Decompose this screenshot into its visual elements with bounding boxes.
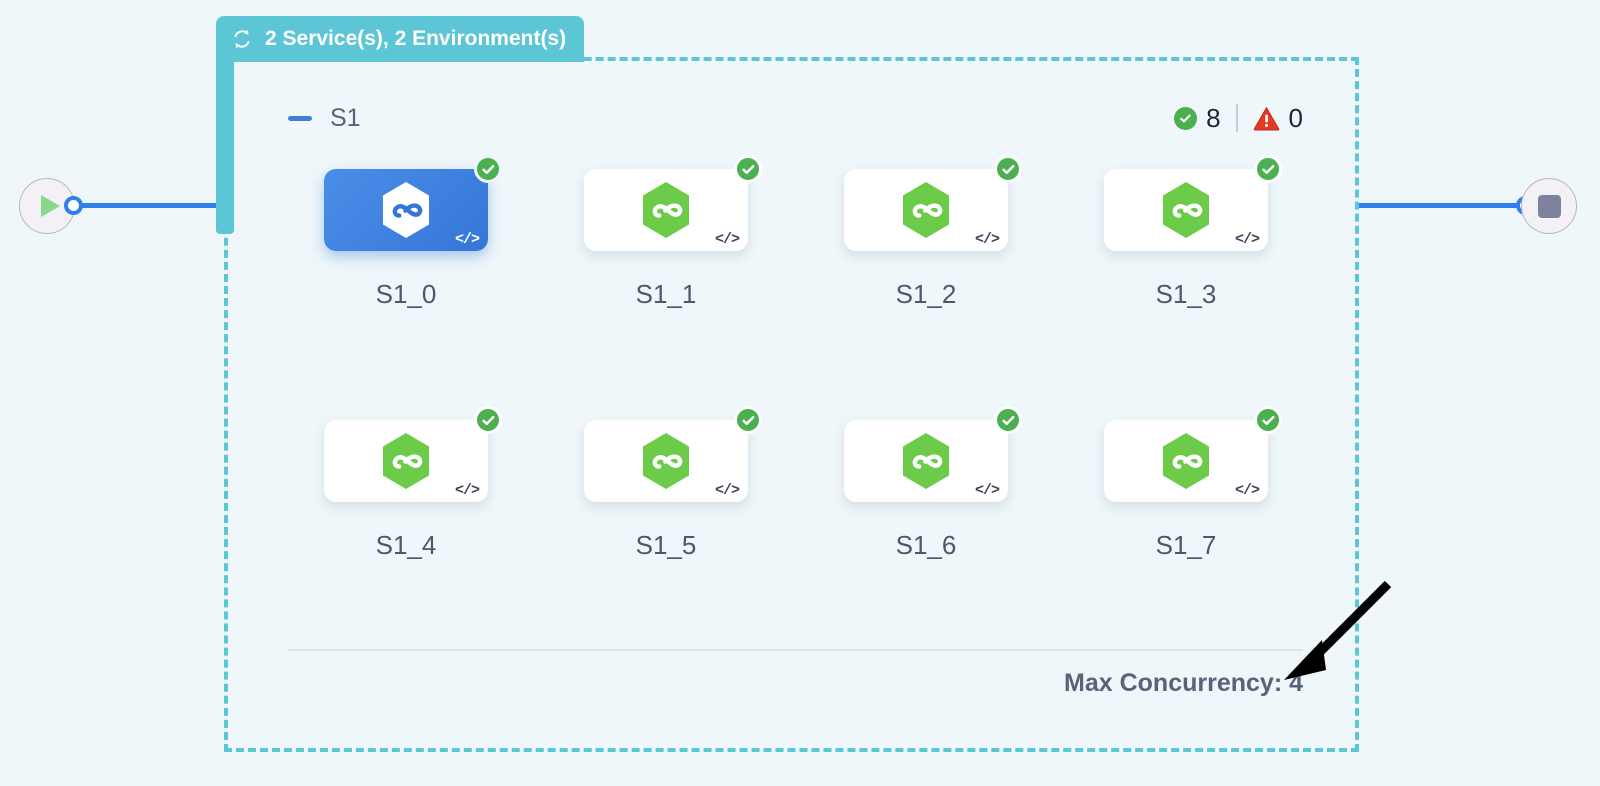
code-glyph-icon: </> [455, 231, 479, 248]
node-cell: </>S1_3 [1056, 169, 1316, 420]
code-glyph-icon: </> [715, 482, 739, 499]
loop-repeat-icon [230, 27, 254, 51]
node-grid: </>S1_0</>S1_1</>S1_2</>S1_3</>S1_4</>S1… [276, 169, 1316, 671]
warning-triangle-icon [1253, 106, 1280, 131]
node-label: S1_0 [376, 279, 437, 310]
check-circle-icon [474, 155, 502, 183]
node-label: S1_1 [636, 279, 697, 310]
status-warning: 0 [1253, 103, 1303, 134]
node-cell: </>S1_6 [796, 420, 1056, 671]
check-circle-icon [734, 155, 762, 183]
node-row: </>S1_0</>S1_1</>S1_2</>S1_3 [276, 169, 1316, 420]
hexagon-shape [380, 181, 432, 239]
status-cluster: 8 0 [1174, 103, 1303, 134]
node-cell: </>S1_7 [1056, 420, 1316, 671]
hexagon-loop-icon [380, 432, 432, 490]
node-label: S1_4 [376, 530, 437, 561]
code-glyph-icon: </> [1235, 231, 1259, 248]
workflow-canvas: S1 8 [0, 0, 1600, 786]
service-node-s1_5[interactable]: </> [584, 420, 748, 502]
service-node-s1_3[interactable]: </> [1104, 169, 1268, 251]
end-node[interactable] [1521, 178, 1577, 234]
node-cell: </>S1_1 [536, 169, 796, 420]
node-label: S1_6 [896, 530, 957, 561]
code-glyph-icon: </> [715, 231, 739, 248]
check-circle-icon [1254, 406, 1282, 434]
service-node-s1_6[interactable]: </> [844, 420, 1008, 502]
hexagon-shape [900, 181, 952, 239]
group-header: S1 8 [288, 98, 1303, 138]
code-glyph-icon: </> [455, 482, 479, 499]
hexagon-shape [640, 181, 692, 239]
hexagon-shape [1160, 432, 1212, 490]
check-circle-icon [1174, 107, 1197, 130]
node-cell: </>S1_4 [276, 420, 536, 671]
check-circle-icon [994, 155, 1022, 183]
status-ok-count: 8 [1206, 103, 1220, 134]
hexagon-loop-icon [380, 181, 432, 239]
minus-icon[interactable] [288, 116, 312, 121]
hexagon-shape [640, 432, 692, 490]
node-label: S1_5 [636, 530, 697, 561]
check-circle-icon [994, 406, 1022, 434]
status-warning-count: 0 [1289, 103, 1303, 134]
service-group-container: S1 8 [224, 57, 1359, 752]
check-circle-icon [1254, 155, 1282, 183]
hexagon-loop-icon [1160, 181, 1212, 239]
stop-icon [1538, 195, 1561, 218]
node-label: S1_2 [896, 279, 957, 310]
hexagon-loop-icon [640, 181, 692, 239]
status-divider [1236, 104, 1238, 132]
code-glyph-icon: </> [975, 231, 999, 248]
group-spine [216, 56, 234, 234]
play-icon [41, 195, 60, 217]
node-cell: </>S1_2 [796, 169, 1056, 420]
edge-group-to-end [1358, 203, 1518, 208]
hexagon-loop-icon [640, 432, 692, 490]
group-tab[interactable]: 2 Service(s), 2 Environment(s) [216, 16, 584, 62]
status-ok: 8 [1174, 103, 1220, 134]
node-cell: </>S1_0 [276, 169, 536, 420]
node-cell: </>S1_5 [536, 420, 796, 671]
node-label: S1_7 [1156, 530, 1217, 561]
service-node-s1_7[interactable]: </> [1104, 420, 1268, 502]
hexagon-shape [1160, 181, 1212, 239]
edge-start-to-group [80, 203, 226, 208]
hexagon-loop-icon [900, 432, 952, 490]
hexagon-loop-icon [900, 181, 952, 239]
group-label: S1 [330, 104, 361, 133]
group-tab-label: 2 Service(s), 2 Environment(s) [265, 27, 566, 51]
service-node-s1_4[interactable]: </> [324, 420, 488, 502]
node-row: </>S1_4</>S1_5</>S1_6</>S1_7 [276, 420, 1316, 671]
check-circle-icon [734, 406, 762, 434]
max-concurrency-label: Max Concurrency: 4 [288, 669, 1303, 698]
check-circle-icon [474, 406, 502, 434]
code-glyph-icon: </> [975, 482, 999, 499]
hexagon-shape [380, 432, 432, 490]
code-glyph-icon: </> [1235, 482, 1259, 499]
service-node-s1_0[interactable]: </> [324, 169, 488, 251]
hexagon-loop-icon [1160, 432, 1212, 490]
node-label: S1_3 [1156, 279, 1217, 310]
hexagon-shape [900, 432, 952, 490]
footer-divider [288, 649, 1303, 651]
service-node-s1_2[interactable]: </> [844, 169, 1008, 251]
service-node-s1_1[interactable]: </> [584, 169, 748, 251]
